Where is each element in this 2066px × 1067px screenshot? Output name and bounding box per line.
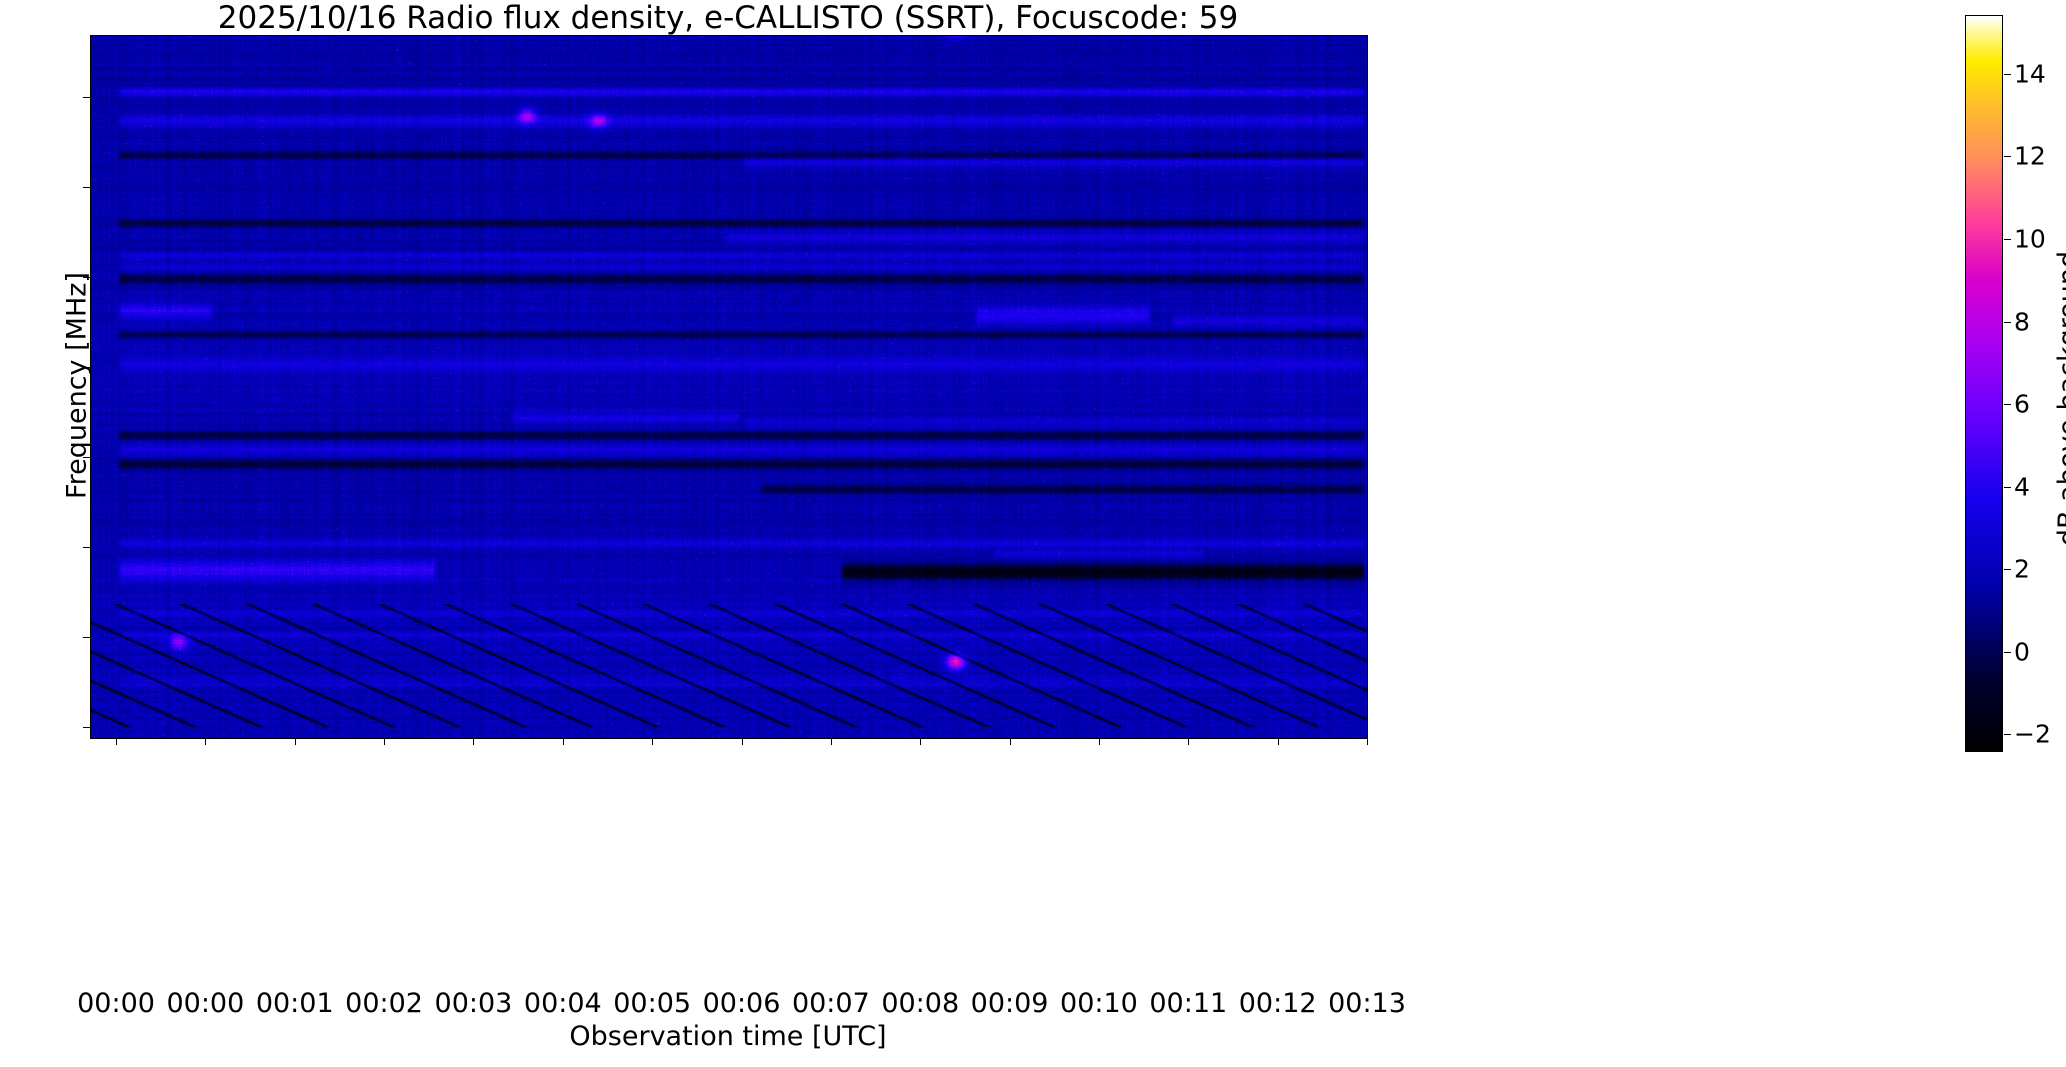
x-tick-label: 00:02 — [345, 988, 423, 1019]
colorbar-tick-mark — [2004, 569, 2011, 570]
x-tick-label: 00:13 — [1328, 988, 1406, 1019]
x-tick-mark — [473, 738, 474, 745]
spectrogram-image — [91, 36, 1367, 738]
x-tick-mark — [1367, 738, 1368, 745]
x-tick-label: 00:10 — [1060, 988, 1138, 1019]
x-tick-label: 00:00 — [166, 988, 244, 1019]
x-tick-label: 00:08 — [881, 988, 959, 1019]
x-tick-mark — [116, 738, 117, 745]
figure-canvas: 2025/10/16 Radio flux density, e-CALLIST… — [0, 0, 2066, 1067]
x-tick-mark — [205, 738, 206, 745]
colorbar-tick-label: 8 — [2014, 307, 2030, 336]
colorbar-gradient — [1966, 16, 2002, 751]
x-axis-label: Observation time [UTC] — [90, 1021, 1366, 1052]
spectrogram-axes[interactable] — [90, 35, 1368, 739]
y-tick-mark — [83, 277, 90, 278]
y-tick-mark — [83, 727, 90, 728]
x-tick-mark — [1188, 738, 1189, 745]
y-tick-mark — [83, 457, 90, 458]
x-tick-label: 00:04 — [524, 988, 602, 1019]
colorbar-tick-mark — [2004, 156, 2011, 157]
page-title: 2025/10/16 Radio flux density, e-CALLIST… — [90, 2, 1366, 34]
x-tick-label: 00:05 — [613, 988, 691, 1019]
y-tick-mark — [83, 187, 90, 188]
y-tick-mark — [83, 547, 90, 548]
x-tick-label: 00:11 — [1149, 988, 1227, 1019]
x-tick-mark — [742, 738, 743, 745]
x-tick-label: 00:01 — [256, 988, 334, 1019]
x-tick-mark — [1099, 738, 1100, 745]
colorbar[interactable] — [1965, 15, 2003, 752]
colorbar-tick-label: 6 — [2014, 390, 2030, 419]
x-tick-label: 00:00 — [77, 988, 155, 1019]
colorbar-tick-mark — [2004, 239, 2011, 240]
x-tick-mark — [295, 738, 296, 745]
y-tick-mark — [83, 367, 90, 368]
colorbar-tick-label: 2 — [2014, 555, 2030, 584]
colorbar-tick-mark — [2004, 487, 2011, 488]
x-tick-label: 00:06 — [703, 988, 781, 1019]
colorbar-tick-label: 12 — [2014, 142, 2046, 171]
x-tick-mark — [1010, 738, 1011, 745]
x-tick-mark — [652, 738, 653, 745]
x-tick-mark — [1278, 738, 1279, 745]
colorbar-tick-mark — [2004, 322, 2011, 323]
colorbar-tick-label: 4 — [2014, 472, 2030, 501]
y-tick-mark — [83, 637, 90, 638]
colorbar-tick-label: 0 — [2014, 637, 2030, 666]
colorbar-tick-label: −2 — [2014, 720, 2051, 749]
colorbar-tick-mark — [2004, 652, 2011, 653]
colorbar-label: dB above background — [2053, 30, 2066, 767]
colorbar-tick-mark — [2004, 734, 2011, 735]
x-tick-label: 00:07 — [792, 988, 870, 1019]
x-tick-mark — [563, 738, 564, 745]
y-axis-label: Frequency [MHz] — [62, 35, 93, 737]
x-tick-mark — [831, 738, 832, 745]
x-tick-mark — [384, 738, 385, 745]
y-tick-mark — [83, 97, 90, 98]
colorbar-tick-label: 10 — [2014, 224, 2046, 253]
colorbar-tick-mark — [2004, 404, 2011, 405]
x-tick-label: 00:12 — [1239, 988, 1317, 1019]
x-tick-mark — [920, 738, 921, 745]
colorbar-tick-label: 14 — [2014, 59, 2046, 88]
x-tick-label: 00:03 — [435, 988, 513, 1019]
x-tick-label: 00:09 — [971, 988, 1049, 1019]
colorbar-tick-mark — [2004, 74, 2011, 75]
